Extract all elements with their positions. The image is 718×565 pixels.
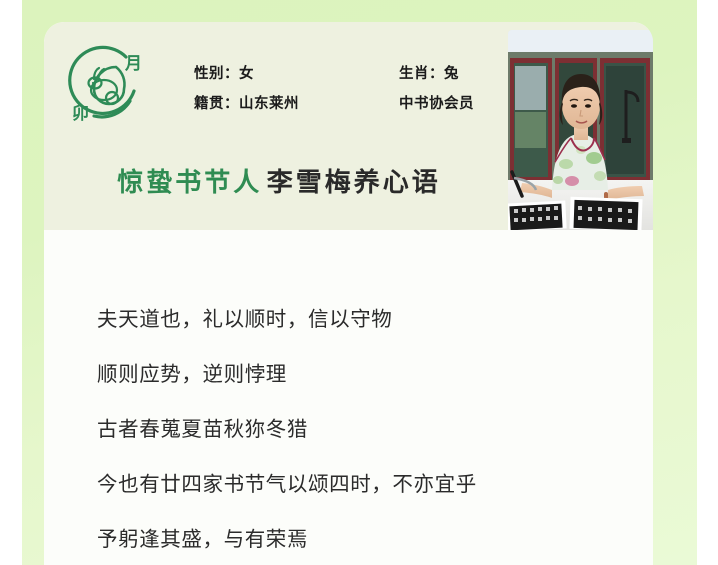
logo-char-yue: 月	[124, 54, 142, 73]
info-row: 性别：女 生肖：兔	[194, 62, 524, 92]
info-membership: 中书协会员	[399, 92, 524, 113]
info-row: 籍贯：山东莱州 中书协会员	[194, 92, 524, 122]
info-hometown: 籍贯：山东莱州	[194, 92, 399, 113]
profile-card: 月 卯 性别：女 生肖：兔 籍贯：山东莱州 中书协会员 惊蛰书节人	[44, 22, 653, 565]
verse-line: 顺则应势，逆则悖理	[97, 347, 637, 402]
info-zodiac: 生肖：兔	[399, 62, 524, 83]
verse-line: 古者春蒐夏苗秋狝冬猎	[97, 402, 637, 457]
rabbit-zodiac-emblem-icon: 月 卯	[64, 43, 148, 127]
title-green-part: 惊蛰书节人	[117, 167, 262, 197]
card-body: 夫天道也，礼以顺时，信以守物 顺则应势，逆则悖理 古者春蒐夏苗秋狝冬猎 今也有廿…	[44, 230, 653, 565]
profile-info-block: 性别：女 生肖：兔 籍贯：山东莱州 中书协会员	[194, 62, 524, 122]
logo-char-mao: 卯	[72, 104, 89, 123]
verse-block: 夫天道也，礼以顺时，信以守物 顺则应势，逆则悖理 古者春蒐夏苗秋狝冬猎 今也有廿…	[97, 292, 637, 565]
portrait-photo	[508, 30, 653, 230]
title-dark-part: 李雪梅养心语	[267, 167, 441, 197]
poster-page: 月 卯 性别：女 生肖：兔 籍贯：山东莱州 中书协会员 惊蛰书节人	[0, 0, 718, 565]
page-title: 惊蛰书节人 李雪梅养心语	[44, 162, 514, 199]
info-gender: 性别：女	[194, 62, 399, 83]
verse-line: 予躬逢其盛，与有荣焉	[97, 512, 637, 565]
verse-line: 夫天道也，礼以顺时，信以守物	[97, 292, 637, 347]
verse-line: 今也有廿四家书节气以颂四时，不亦宜乎	[97, 457, 637, 512]
card-header: 月 卯 性别：女 生肖：兔 籍贯：山东莱州 中书协会员 惊蛰书节人	[44, 22, 653, 230]
